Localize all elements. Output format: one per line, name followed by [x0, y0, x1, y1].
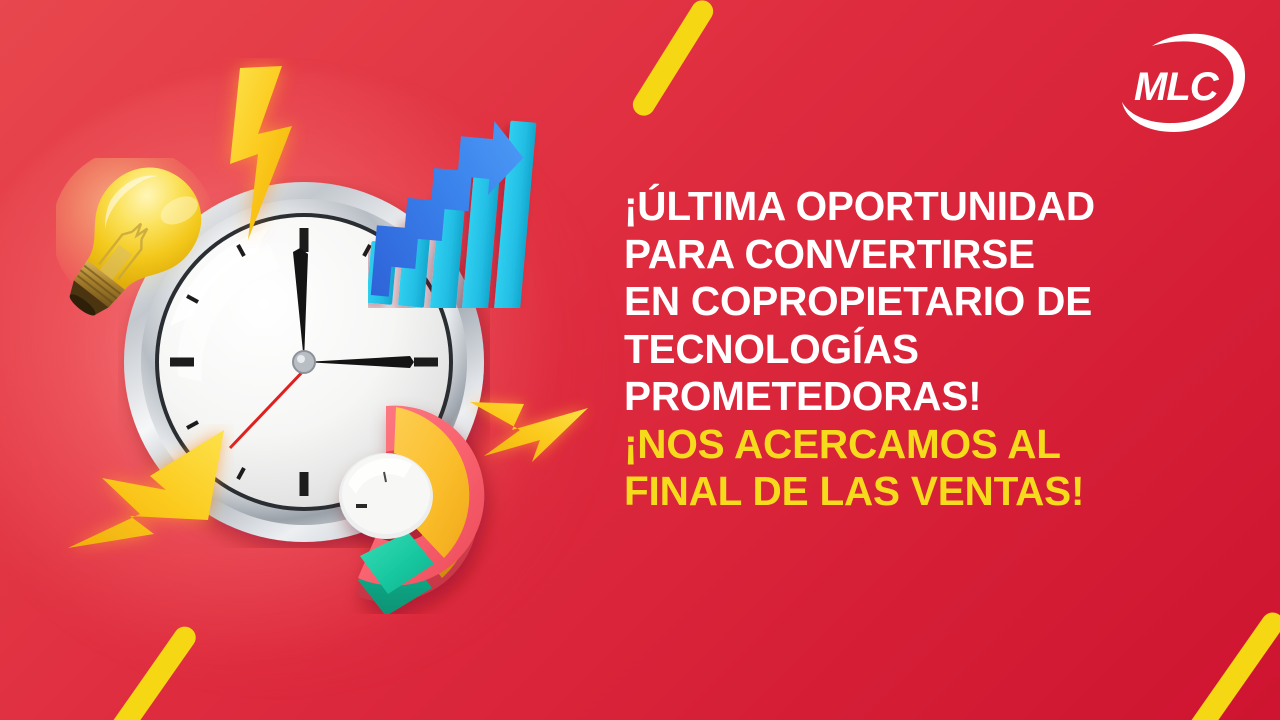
headline-line-1: ¡ÚLTIMA OPORTUNIDAD [624, 183, 1264, 231]
illustration-group [0, 0, 620, 720]
stripe-top-center [629, 0, 718, 120]
headline-line-3: EN COPROPIETARIO DE [624, 278, 1264, 326]
lightning-bolt-top [208, 58, 320, 248]
mlc-logo[interactable]: MLC [1118, 28, 1250, 136]
headline-line-2: PARA CONVERTIRSE [624, 231, 1264, 279]
lightning-bolt-left [58, 424, 234, 580]
headline-line-4: TECNOLOGÍAS [624, 326, 1264, 374]
lightning-bolt-right [466, 386, 596, 502]
promotional-banner: MLC ¡ÚLTIMA OPORTUNIDAD PARA CONVERTIRSE… [0, 0, 1280, 720]
headline-line-7: FINAL DE LAS VENTAS! [624, 468, 1264, 516]
stripe-bottom-right [1178, 608, 1280, 720]
headline-block: ¡ÚLTIMA OPORTUNIDAD PARA CONVERTIRSE EN … [624, 183, 1264, 516]
headline-line-6: ¡NOS ACERCAMOS AL [624, 421, 1264, 469]
mlc-logo-text: MLC [1134, 65, 1220, 109]
growth-bar-chart [368, 96, 540, 308]
headline-line-5: PROMETEDORAS! [624, 373, 1264, 421]
